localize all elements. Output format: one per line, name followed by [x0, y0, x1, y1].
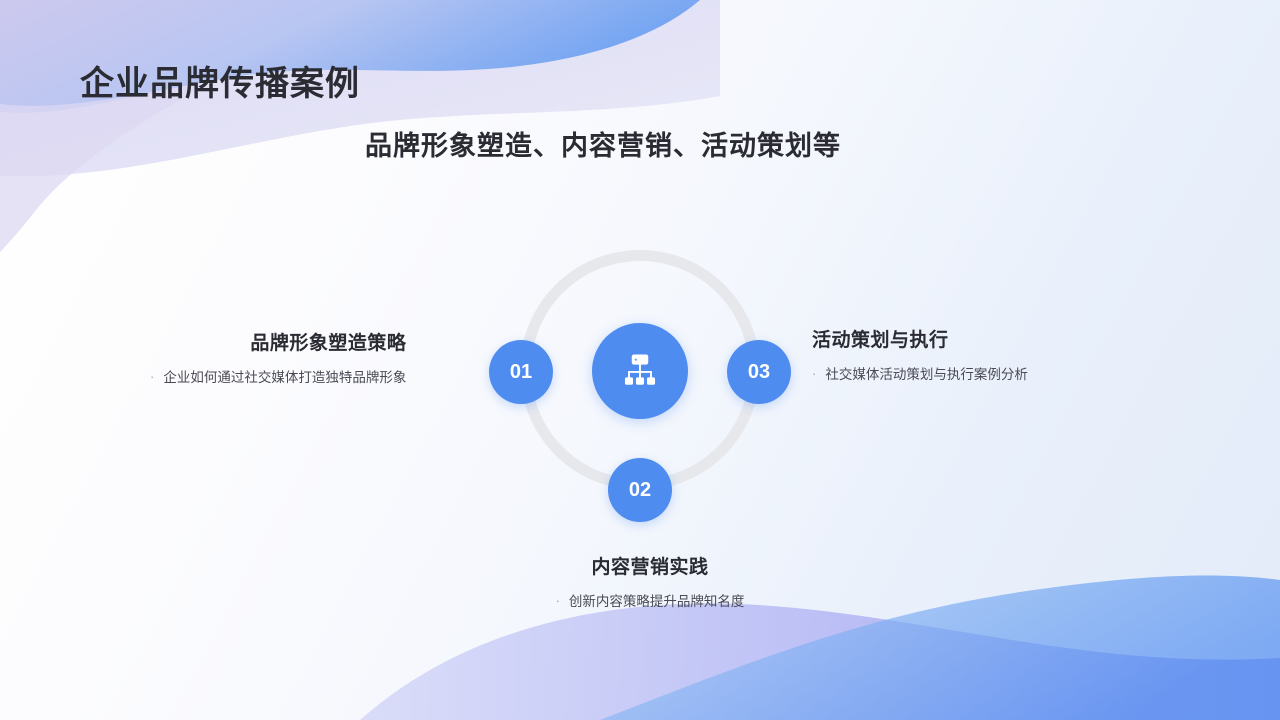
diagram-node-02[interactable]: 02: [608, 458, 672, 522]
item-desc-02: · 创新内容策略提升品牌知名度: [500, 590, 800, 610]
item-desc-text-02: 创新内容策略提升品牌知名度: [569, 590, 745, 610]
diagram-node-03[interactable]: 03: [727, 340, 791, 404]
diagram-node-01[interactable]: 01: [489, 340, 553, 404]
bullet-icon: ·: [556, 594, 560, 607]
item-desc-text-03: 社交媒体活动策划与执行案例分析: [825, 363, 1028, 383]
item-title-02: 内容营销实践: [500, 552, 800, 579]
item-title-03: 活动策划与执行: [812, 325, 1028, 352]
sitemap-icon: [618, 349, 662, 393]
bullet-icon: ·: [812, 367, 816, 380]
item-block-01: 品牌形象塑造策略 · 企业如何通过社交媒体打造独特品牌形象: [150, 328, 406, 386]
item-title-01: 品牌形象塑造策略: [150, 328, 406, 355]
item-desc-text-01: 企业如何通过社交媒体打造独特品牌形象: [163, 366, 406, 386]
item-desc-01: · 企业如何通过社交媒体打造独特品牌形象: [150, 366, 406, 386]
item-block-03: 活动策划与执行 · 社交媒体活动策划与执行案例分析: [812, 325, 1028, 383]
slide-canvas: 企业品牌传播案例 品牌形象塑造、内容营销、活动策划等: [0, 0, 1280, 720]
item-desc-03: · 社交媒体活动策划与执行案例分析: [812, 363, 1028, 383]
item-block-02: 内容营销实践 · 创新内容策略提升品牌知名度: [500, 552, 800, 610]
bullet-icon: ·: [150, 370, 154, 383]
diagram-hub: [592, 323, 688, 419]
